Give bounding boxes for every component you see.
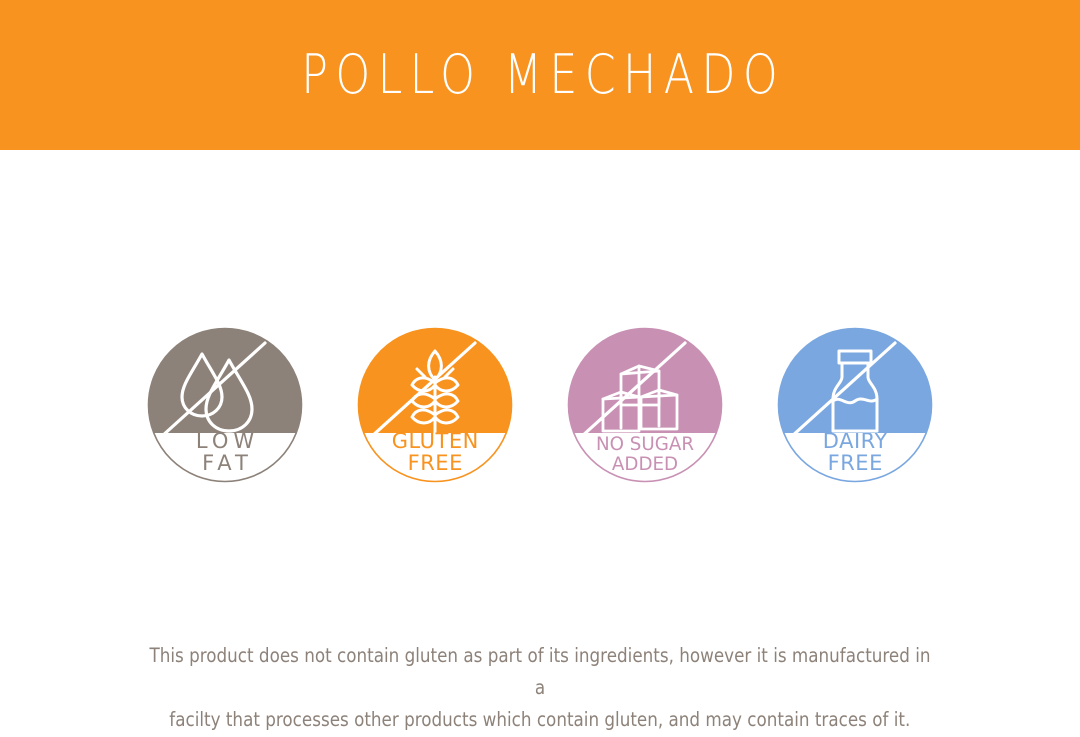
no-sugar-added-badge-graphic <box>567 327 723 483</box>
disclaimer-line-2-text: facilty that processes other products wh… <box>170 704 911 736</box>
certification-badge-row: LOW FAT <box>0 327 1080 483</box>
disclaimer-line-2: facilty that processes other products wh… <box>85 704 995 736</box>
header-band: POLLO MECHADO <box>0 0 1080 150</box>
badge-gluten-free: GLUTEN FREE <box>357 327 513 483</box>
badge-dairy-free: DAIRY FREE <box>777 327 933 483</box>
dairy-free-badge-graphic <box>777 327 933 483</box>
badge-low-fat: LOW FAT <box>147 327 303 483</box>
disclaimer-line-1: This product does not contain gluten as … <box>85 640 995 704</box>
low-fat-badge-graphic <box>147 327 303 483</box>
badge-no-sugar-added: NO SUGAR ADDED <box>567 327 723 483</box>
gluten-disclaimer: This product does not contain gluten as … <box>85 640 995 737</box>
page-title: POLLO MECHADO <box>294 48 785 102</box>
disclaimer-line-1-text: This product does not contain gluten as … <box>149 640 932 704</box>
gluten-free-badge-graphic <box>357 327 513 483</box>
